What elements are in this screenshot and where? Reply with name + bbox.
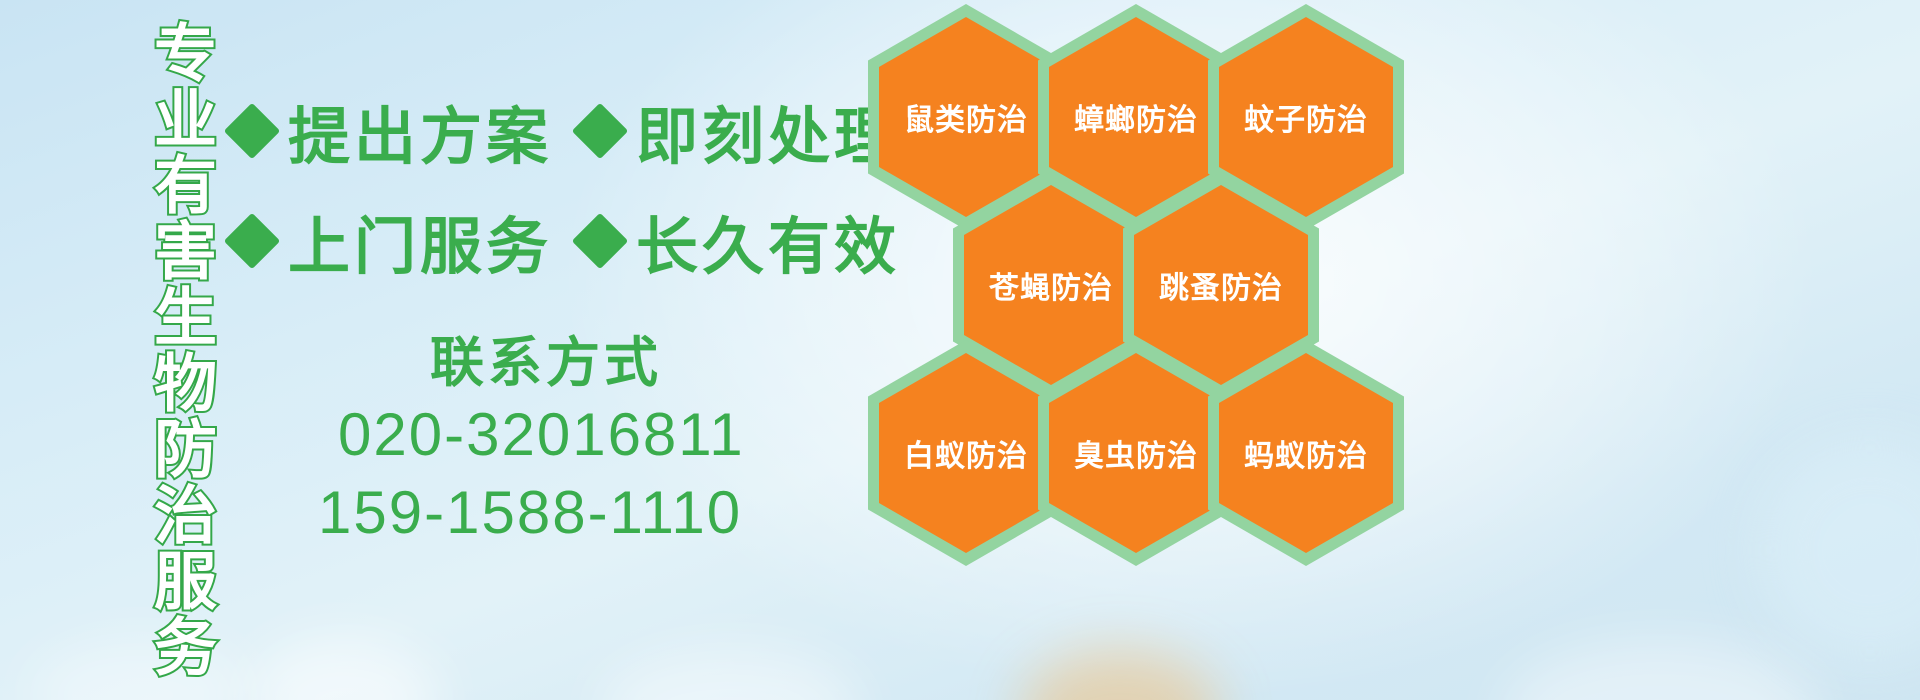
hex-cell-bedbug-control[interactable]: 臭虫防治	[1038, 340, 1234, 566]
background-blur-blob	[250, 640, 440, 700]
phone-number-landline[interactable]: 020-32016811	[338, 400, 745, 469]
contact-label: 联系方式	[430, 318, 662, 397]
slogan-label: 提出方案	[288, 86, 552, 176]
diamond-bullet-icon	[224, 103, 281, 160]
slogan-item: 长久有效	[580, 196, 900, 286]
slogan-row-2: 上门服务 长久有效	[232, 196, 900, 286]
background-blur-blob	[1020, 650, 1220, 700]
hex-label: 跳蚤防治	[1159, 263, 1283, 307]
pest-control-banner: 专业有害生物防治服务 提出方案 即刻处理 上门服务 长久有效 联系方式 020-…	[0, 0, 1920, 700]
honeycomb-services: 鼠类防治 蟑螂防治 蚊子防治 苍蝇防治 跳蚤防治 白蚁防治	[858, 0, 1458, 560]
hex-label: 苍蝇防治	[989, 263, 1113, 307]
diamond-bullet-icon	[224, 213, 281, 270]
slogan-row-1: 提出方案 即刻处理	[232, 86, 900, 176]
hex-cell-termite-control[interactable]: 白蚁防治	[868, 340, 1064, 566]
slogan-item: 即刻处理	[580, 86, 900, 176]
diamond-bullet-icon	[572, 213, 629, 270]
slogan-item: 上门服务	[232, 196, 552, 286]
phone-number-mobile[interactable]: 159-1588-1110	[318, 478, 742, 547]
vertical-title: 专业有害生物防治服务	[106, 12, 210, 688]
slogan-item: 提出方案	[232, 86, 552, 176]
hex-label: 蚂蚁防治	[1244, 431, 1368, 475]
slogan-label: 上门服务	[288, 196, 552, 286]
hex-cell-ant-control[interactable]: 蚂蚁防治	[1208, 340, 1404, 566]
background-blur-blob	[1500, 640, 1820, 700]
diamond-bullet-icon	[572, 103, 629, 160]
hex-label: 臭虫防治	[1074, 431, 1198, 475]
hex-label: 蚊子防治	[1244, 95, 1368, 139]
background-blur-blob	[600, 650, 860, 700]
background-blur-blob	[1760, 440, 1920, 660]
hex-label: 蟑螂防治	[1074, 95, 1198, 139]
hex-label: 白蚁防治	[904, 431, 1028, 475]
hex-label: 鼠类防治	[904, 95, 1028, 139]
